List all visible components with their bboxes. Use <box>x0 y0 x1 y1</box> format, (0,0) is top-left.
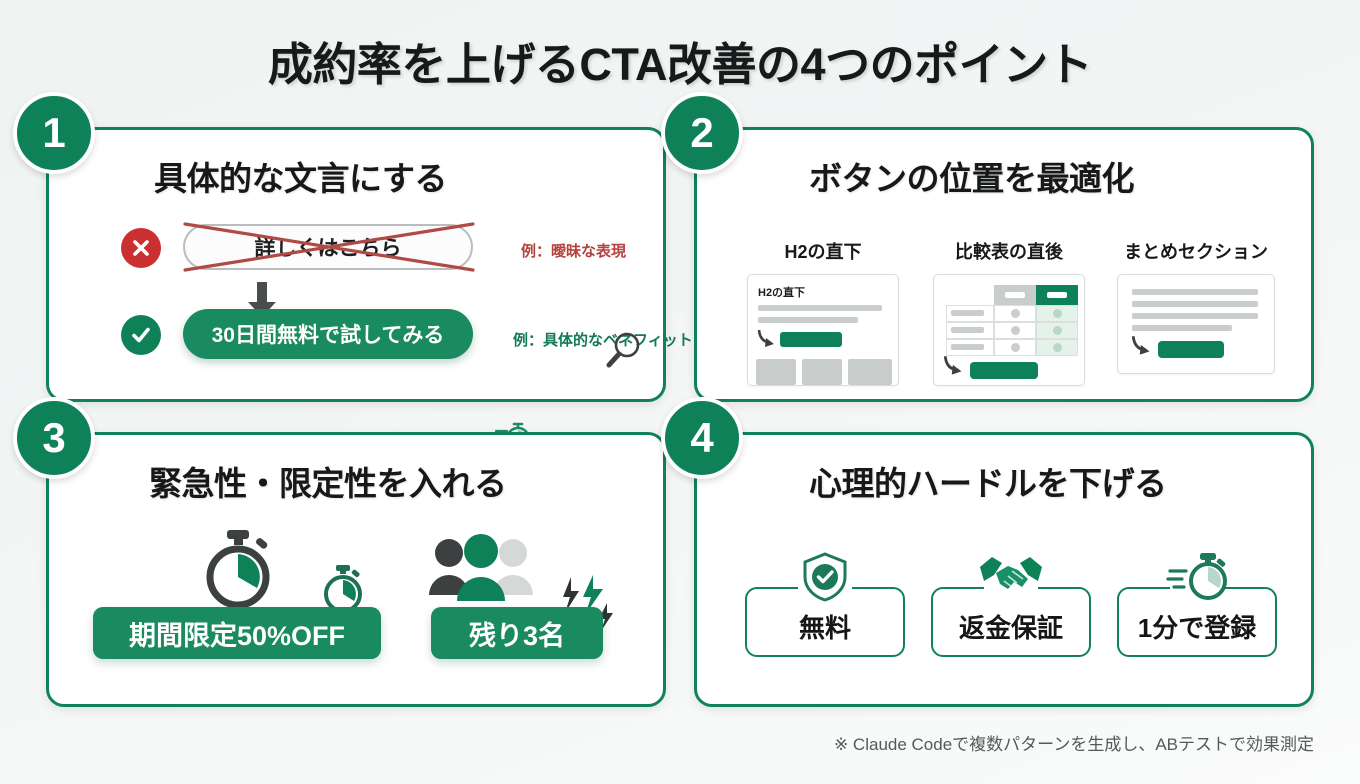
table-dot <box>1053 343 1062 352</box>
mockup-after-table: 比較表の直後 <box>933 238 1085 386</box>
header-label <box>1005 292 1025 298</box>
badge-limited-time-offer[interactable]: 期間限定50%OFF <box>93 607 381 659</box>
curved-arrow-icon <box>756 327 780 351</box>
cta-button-mock <box>970 362 1038 379</box>
card-3-number-badge: 3 <box>13 397 95 479</box>
text-line <box>1132 313 1258 319</box>
table-dot <box>1011 309 1020 318</box>
block <box>756 359 796 385</box>
mockup-1-heading: H2の直下 <box>758 284 805 300</box>
cell-line <box>951 310 984 316</box>
mockup-h2-below: H2の直下 H2の直下 <box>747 238 899 386</box>
cell-line <box>951 344 984 350</box>
table-dot <box>1053 309 1062 318</box>
chip-money-back-guarantee[interactable]: 返金保証 <box>931 587 1091 657</box>
mockup-2-frame <box>933 274 1085 386</box>
mockup-3-frame <box>1117 274 1275 374</box>
card-3-urgency-scarcity: 3 緊急性・限定性を入れる <box>46 432 666 707</box>
mockup-1-frame: H2の直下 <box>747 274 899 386</box>
chip-one-minute-signup[interactable]: 1分で登録 <box>1117 587 1277 657</box>
magnifier-icon <box>601 330 645 374</box>
card-2-number-badge: 2 <box>661 92 743 174</box>
table-dot <box>1011 343 1020 352</box>
card-2-button-placement: 2 ボタンの位置を最適化 H2の直下 H2の直下 比較表の直後 <box>694 127 1314 402</box>
stopwatch-icon <box>1166 551 1228 603</box>
chip-free[interactable]: 無料 <box>745 587 905 657</box>
card-1-title: 具体的な文言にする <box>154 152 447 200</box>
footer-note: ※ Claude Codeで複数パターンを生成し、ABテストで効果測定 <box>834 730 1314 755</box>
header-label <box>1047 292 1067 298</box>
cell-line <box>951 327 984 333</box>
card-4-number-badge: 4 <box>661 397 743 479</box>
text-line <box>1132 301 1258 307</box>
text-line <box>1132 325 1232 331</box>
badge-seats-remaining[interactable]: 残り3名 <box>431 607 603 659</box>
check-mark-icon <box>121 315 161 355</box>
card-2-title: ボタンの位置を最適化 <box>809 152 1134 200</box>
mockup-1-label: H2の直下 <box>747 238 899 264</box>
page-title: 成約率を上げるCTA改善の4つのポイント <box>0 28 1360 93</box>
people-group-icon <box>427 533 535 605</box>
card-4-title: 心理的ハードルを下げる <box>809 457 1167 505</box>
card-3-title: 緊急性・限定性を入れる <box>149 457 507 505</box>
good-cta-button[interactable]: 30日間無料で試してみる <box>183 309 473 359</box>
cta-button-mock <box>780 332 842 347</box>
chip-free-label: 無料 <box>799 608 851 645</box>
text-line <box>758 317 858 323</box>
curved-arrow-icon <box>1130 333 1156 359</box>
mockup-2-label: 比較表の直後 <box>933 238 1085 264</box>
chip-guarantee-label: 返金保証 <box>959 608 1063 645</box>
shield-check-icon <box>801 551 849 603</box>
table-dot <box>1053 326 1062 335</box>
chip-signup-label: 1分で登録 <box>1138 608 1256 645</box>
stopwatch-large-icon <box>199 528 277 610</box>
x-mark-icon <box>121 228 161 268</box>
mockup-summary-section: まとめセクション <box>1117 238 1275 374</box>
cta-button-mock <box>1158 341 1224 358</box>
card-1-number-badge: 1 <box>13 92 95 174</box>
text-line <box>758 305 882 311</box>
card-4-lower-barrier: 4 心理的ハードルを下げる 無料 返金保証 <box>694 432 1314 707</box>
block <box>802 359 842 385</box>
text-line <box>1132 289 1258 295</box>
card-1-specific-wording: 1 具体的な文言にする 詳しくはこちら 例：曖昧な表現 30日間無料で試してみる… <box>46 127 666 402</box>
mockup-3-label: まとめセクション <box>1117 238 1275 264</box>
infographic-page: 成約率を上げるCTA改善の4つのポイント 1 具体的な文言にする 詳しくはこちら… <box>0 0 1360 784</box>
bad-example-note: 例：曖昧な表現 <box>521 240 626 261</box>
strikethrough-cross-icon <box>181 220 477 274</box>
curved-arrow-icon <box>942 353 968 379</box>
handshake-icon <box>978 551 1044 603</box>
block <box>848 359 892 385</box>
table-dot <box>1011 326 1020 335</box>
